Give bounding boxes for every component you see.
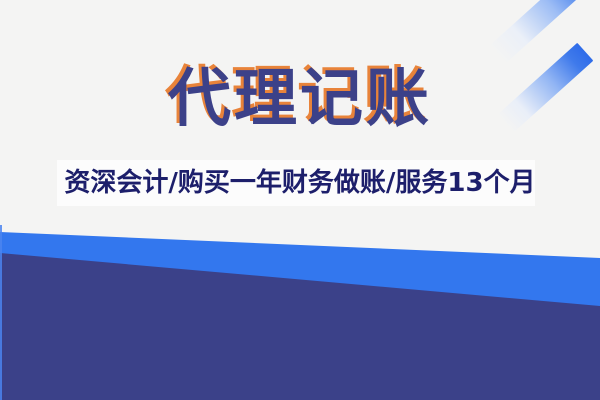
subtitle: 资深会计/购买一年财务做账/服务13个月: [0, 162, 600, 204]
headline-group: 代理记账 代理记账: [0, 58, 600, 140]
left-edge-accent-strip: [0, 225, 2, 400]
promo-banner: 代理记账 代理记账 资深会计/购买一年财务做账/服务13个月: [0, 0, 600, 400]
page-title: 代理记账: [0, 58, 600, 140]
